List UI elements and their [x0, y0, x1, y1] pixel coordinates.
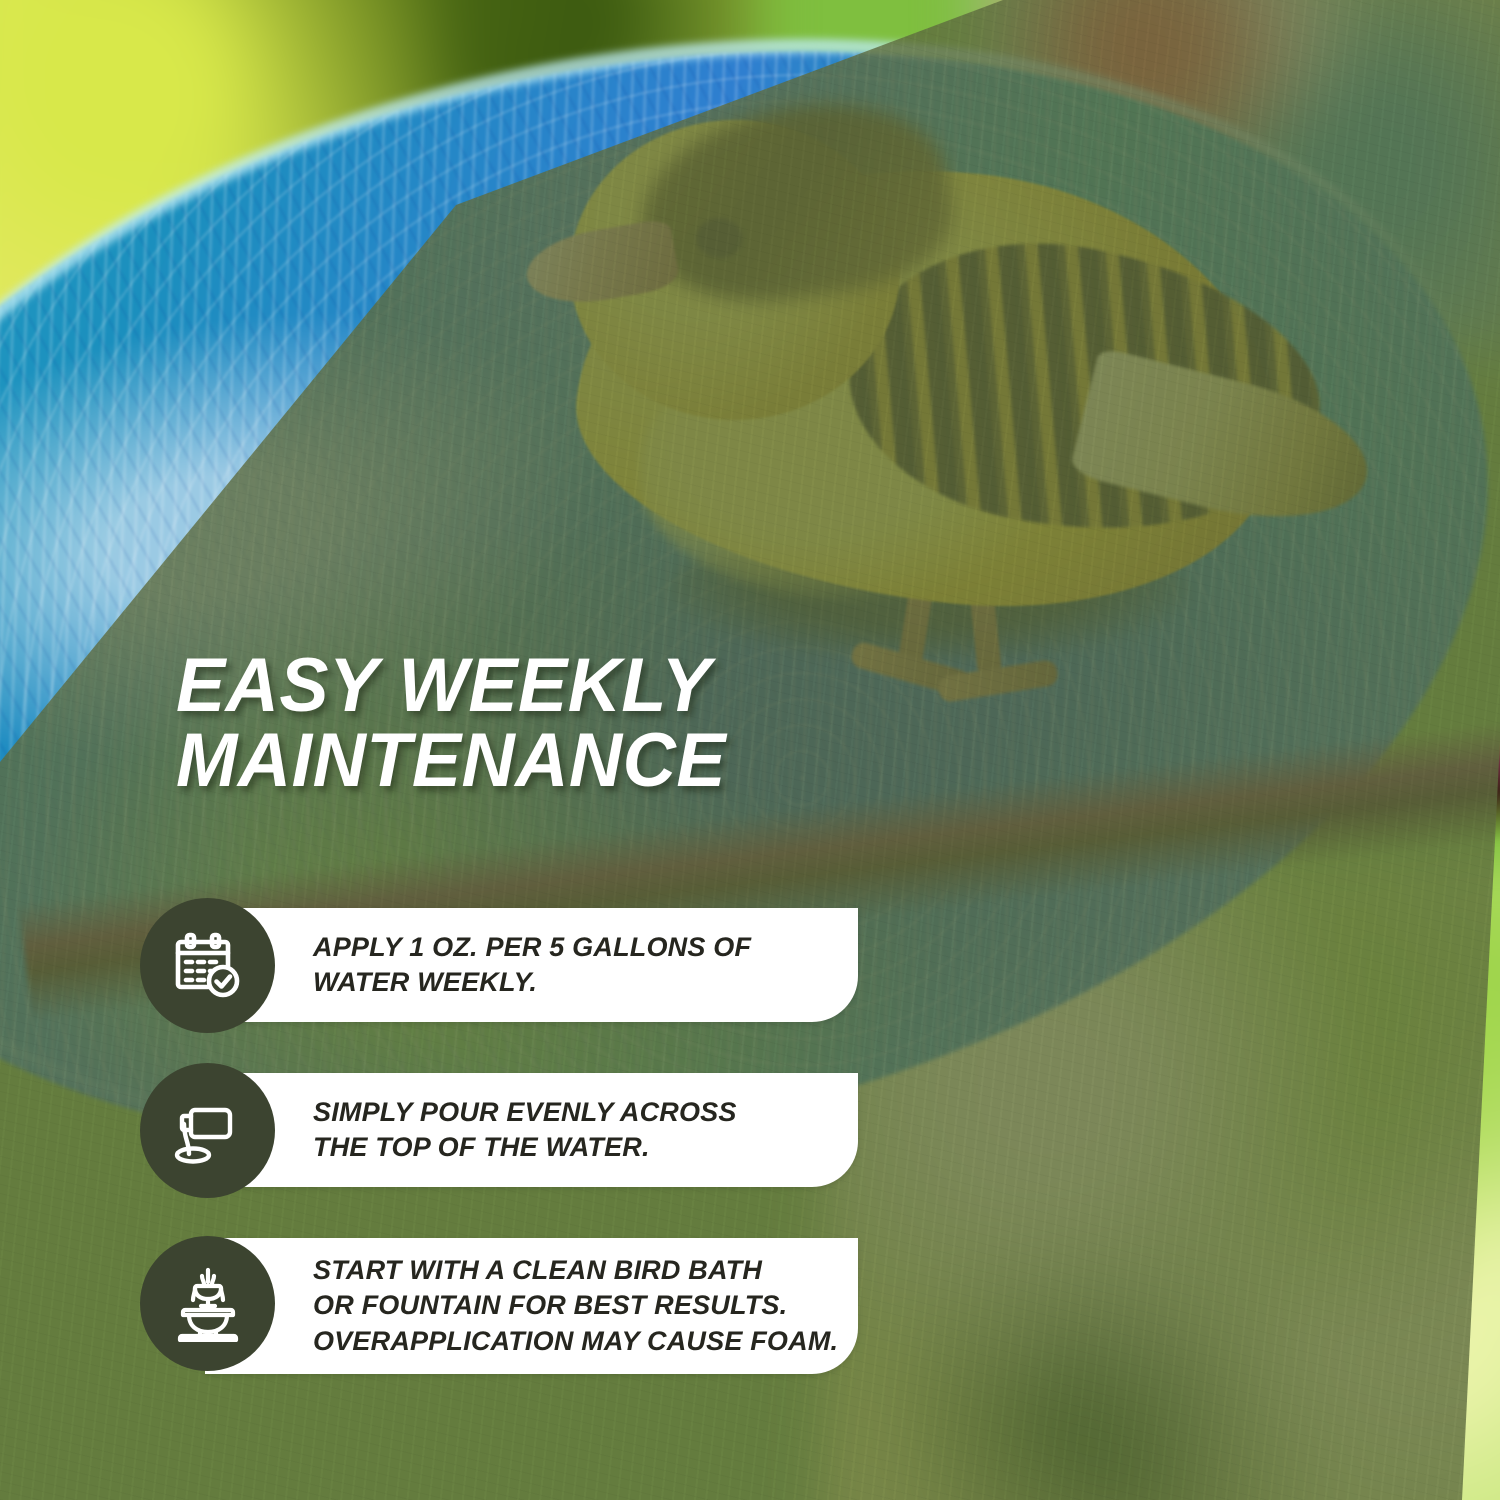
- list-item: SIMPLY POUR EVENLY ACROSS THE TOP OF THE…: [0, 1061, 900, 1226]
- calendar-check-icon: [171, 929, 245, 1003]
- instruction-line: WATER WEEKLY.: [313, 965, 751, 1000]
- instruction-line: OR FOUNTAIN FOR BEST RESULTS.: [313, 1288, 838, 1323]
- instruction-line: SIMPLY POUR EVENLY ACROSS: [313, 1095, 737, 1130]
- icon-badge: [140, 1063, 275, 1198]
- pouring-bottle-icon: [171, 1094, 245, 1168]
- icon-badge: [140, 898, 275, 1033]
- instruction-text: START WITH A CLEAN BIRD BATH OR FOUNTAIN…: [205, 1253, 864, 1358]
- instruction-card: START WITH A CLEAN BIRD BATH OR FOUNTAIN…: [205, 1238, 858, 1374]
- headline-line-1: EASY WEEKLY: [176, 648, 874, 723]
- instruction-line: THE TOP OF THE WATER.: [313, 1130, 737, 1165]
- list-item: APPLY 1 OZ. PER 5 GALLONS OF WATER WEEKL…: [0, 896, 900, 1061]
- instruction-card: APPLY 1 OZ. PER 5 GALLONS OF WATER WEEKL…: [205, 908, 858, 1022]
- instruction-text: APPLY 1 OZ. PER 5 GALLONS OF WATER WEEKL…: [205, 930, 777, 1000]
- fountain-icon: [170, 1266, 246, 1342]
- instruction-card: SIMPLY POUR EVENLY ACROSS THE TOP OF THE…: [205, 1073, 858, 1187]
- page-title: EASY WEEKLY MAINTENANCE: [176, 648, 874, 798]
- instruction-list: APPLY 1 OZ. PER 5 GALLONS OF WATER WEEKL…: [0, 896, 900, 1396]
- infographic-canvas: EASY WEEKLY MAINTENANCE APPLY 1 OZ. PER …: [0, 0, 1500, 1500]
- instruction-line: START WITH A CLEAN BIRD BATH: [313, 1253, 838, 1288]
- instruction-line: OVERAPPLICATION MAY CAUSE FOAM.: [313, 1324, 838, 1359]
- list-item: START WITH A CLEAN BIRD BATH OR FOUNTAIN…: [0, 1226, 900, 1396]
- instruction-line: APPLY 1 OZ. PER 5 GALLONS OF: [313, 930, 751, 965]
- icon-badge: [140, 1236, 275, 1371]
- headline-line-2: MAINTENANCE: [176, 723, 874, 798]
- content-layer: EASY WEEKLY MAINTENANCE APPLY 1 OZ. PER …: [0, 0, 1500, 1500]
- instruction-text: SIMPLY POUR EVENLY ACROSS THE TOP OF THE…: [205, 1095, 763, 1165]
